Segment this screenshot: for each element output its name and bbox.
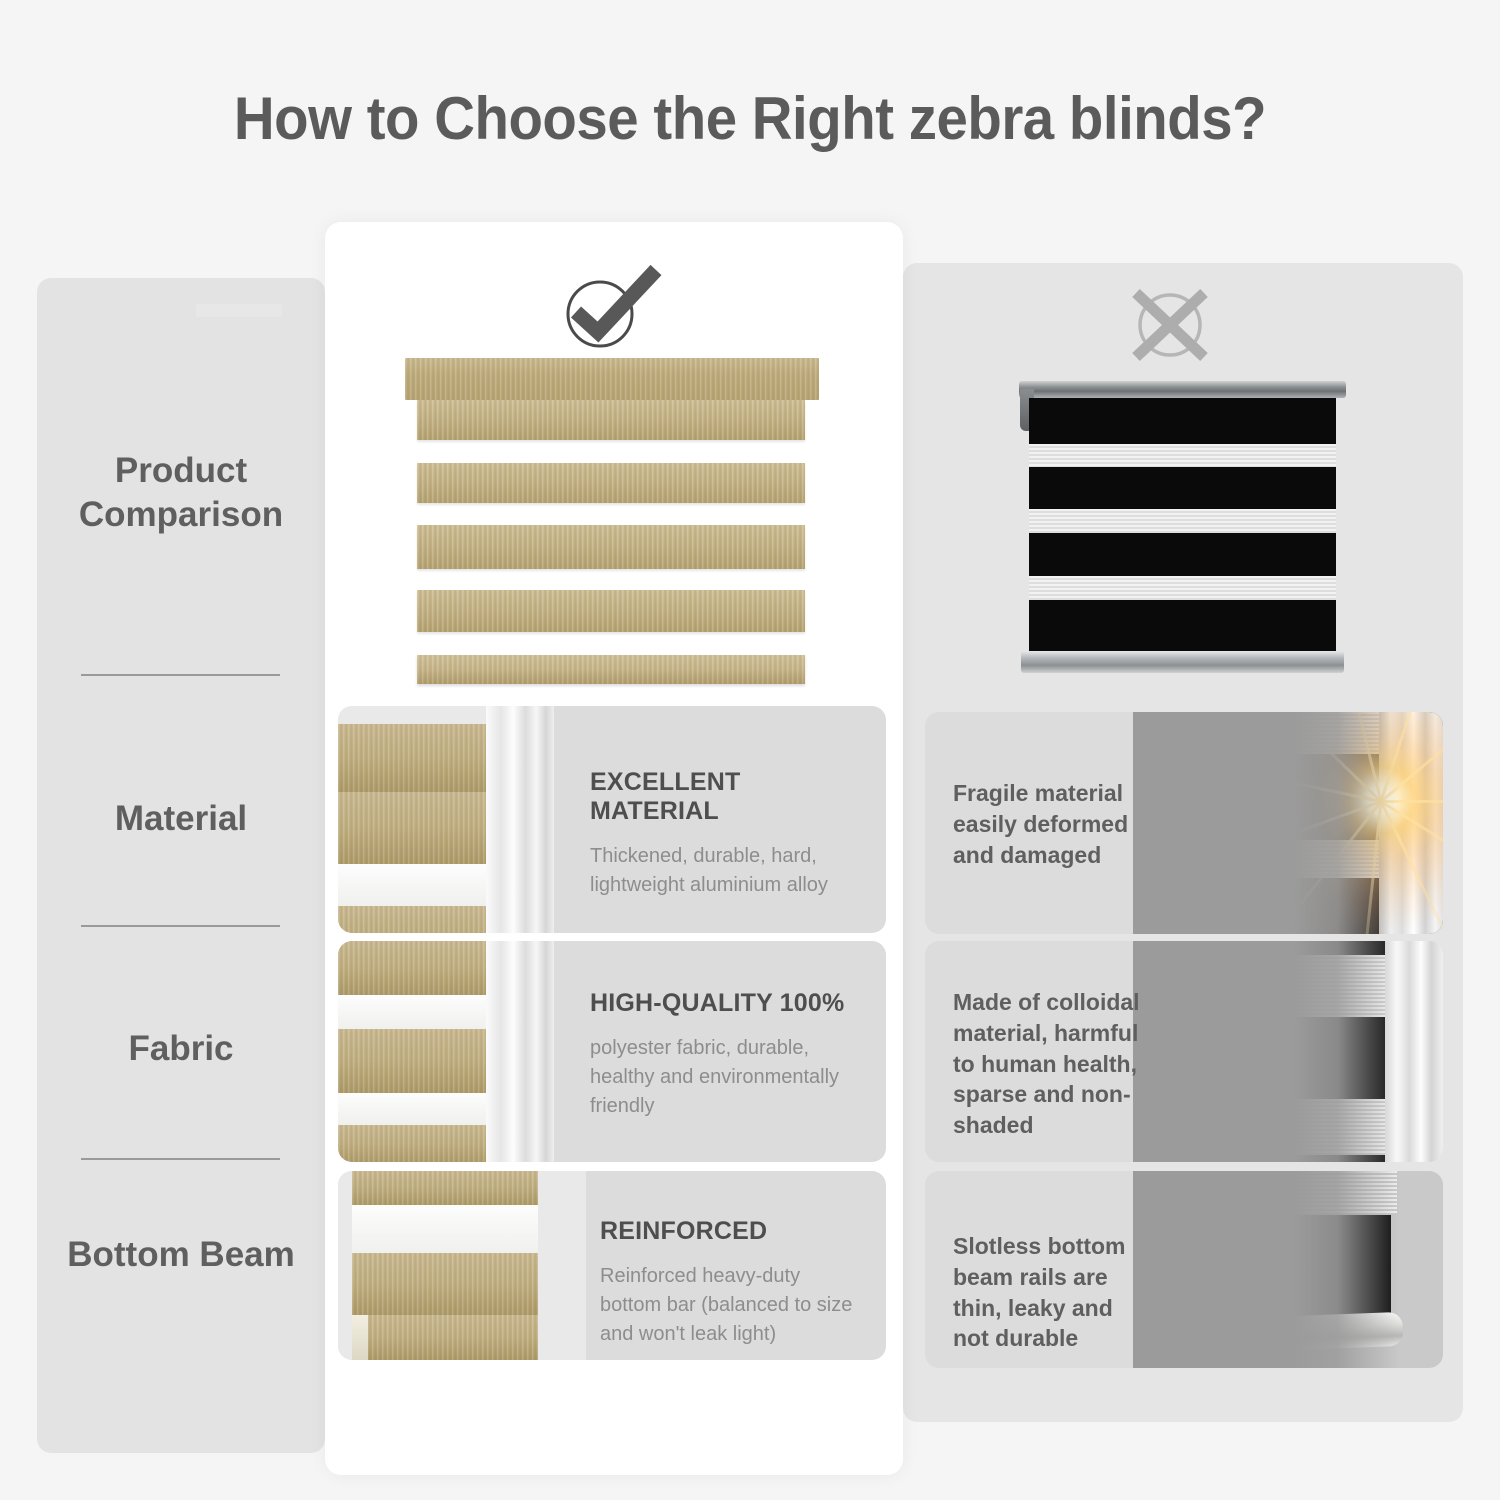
blind-band	[417, 463, 805, 503]
blind-valance	[405, 358, 819, 400]
bad-card-bottom-beam-text: Slotless bottom beam rails are thin, lea…	[953, 1231, 1143, 1354]
bad-card-fabric-image	[1133, 941, 1443, 1162]
blind-bottom-rail	[1021, 651, 1344, 673]
blind-band	[338, 941, 490, 995]
blind-band	[352, 1253, 538, 1315]
row-label-product-comparison: Product Comparison	[37, 449, 325, 537]
blind-sheer-stripe	[338, 1093, 490, 1125]
good-card-bottom-beam-image	[338, 1171, 586, 1360]
bottom-bar-end-cap	[352, 1315, 368, 1360]
row-divider	[81, 674, 280, 676]
blind-top-rail	[1019, 381, 1346, 398]
good-card-material: EXCELLENT MATERIAL Thickened, durable, h…	[338, 706, 886, 933]
blind-bottom-bar	[417, 655, 805, 684]
blind-band	[338, 1125, 490, 1162]
gray-overlay	[1133, 712, 1443, 934]
good-card-fabric-text: HIGH-QUALITY 100% polyester fabric, dura…	[590, 989, 866, 1121]
feature-headline: REINFORCED	[600, 1217, 866, 1246]
blind-sheer-stripe	[352, 1205, 538, 1253]
blind-band	[352, 1171, 538, 1205]
blind-band	[338, 724, 490, 792]
blind-bottom-bar	[352, 1315, 538, 1360]
page-title: How to Choose the Right zebra blinds?	[45, 84, 1455, 153]
row-label-material: Material	[37, 797, 325, 841]
window-frame	[486, 941, 554, 1162]
feature-headline: EXCELLENT MATERIAL	[590, 768, 866, 826]
row-divider	[81, 925, 280, 927]
bad-card-bottom-beam-image	[1133, 1171, 1443, 1368]
window-frame	[486, 706, 554, 933]
row-divider	[81, 1158, 280, 1160]
blind-sheer-stripe	[1029, 576, 1336, 600]
bad-product-image	[1019, 381, 1346, 674]
blind-sheer-stripe	[1029, 509, 1336, 533]
good-product-image	[405, 358, 819, 698]
gray-overlay	[1133, 1171, 1443, 1368]
blind-band	[338, 792, 490, 864]
feature-headline: HIGH-QUALITY 100%	[590, 989, 866, 1018]
blind-fabric	[1029, 398, 1336, 653]
blind-band	[338, 906, 490, 933]
bad-card-material: Fragile material easily deformed and dam…	[925, 712, 1443, 934]
feature-body: Thickened, durable, hard, lightweight al…	[590, 842, 866, 900]
good-card-bottom-beam: REINFORCED Reinforced heavy-duty bottom …	[338, 1171, 886, 1360]
row-label-bottom-beam: Bottom Beam	[37, 1233, 325, 1277]
blind-band	[417, 590, 805, 632]
cross-circle-icon	[1124, 283, 1216, 363]
bad-card-material-text: Fragile material easily deformed and dam…	[953, 778, 1143, 870]
feature-body: Reinforced heavy-duty bottom bar (balanc…	[600, 1262, 866, 1349]
feature-body: polyester fabric, durable, healthy and e…	[590, 1034, 866, 1121]
row-label-fabric: Fabric	[37, 1027, 325, 1071]
blind-band	[417, 400, 805, 440]
blind-sheer-stripe	[338, 995, 490, 1029]
blind-band	[417, 525, 805, 569]
gray-overlay	[1133, 941, 1443, 1162]
good-card-material-image	[338, 706, 554, 933]
blind-bottom-bar-notch	[196, 304, 282, 317]
good-card-material-text: EXCELLENT MATERIAL Thickened, durable, h…	[590, 768, 866, 900]
bad-card-fabric: Made of colloidal material, harmful to h…	[925, 941, 1443, 1162]
bad-card-material-image	[1133, 712, 1443, 934]
good-card-fabric-image	[338, 941, 554, 1162]
blind-sheer-stripe	[338, 864, 490, 906]
bad-card-fabric-text: Made of colloidal material, harmful to h…	[953, 987, 1143, 1141]
blind-sheer-stripe	[1029, 444, 1336, 467]
bad-card-bottom-beam: Slotless bottom beam rails are thin, lea…	[925, 1171, 1443, 1368]
good-card-fabric: HIGH-QUALITY 100% polyester fabric, dura…	[338, 941, 886, 1162]
blind-band	[338, 1029, 490, 1093]
good-card-bottom-beam-text: REINFORCED Reinforced heavy-duty bottom …	[600, 1217, 866, 1349]
check-circle-icon	[556, 262, 666, 352]
